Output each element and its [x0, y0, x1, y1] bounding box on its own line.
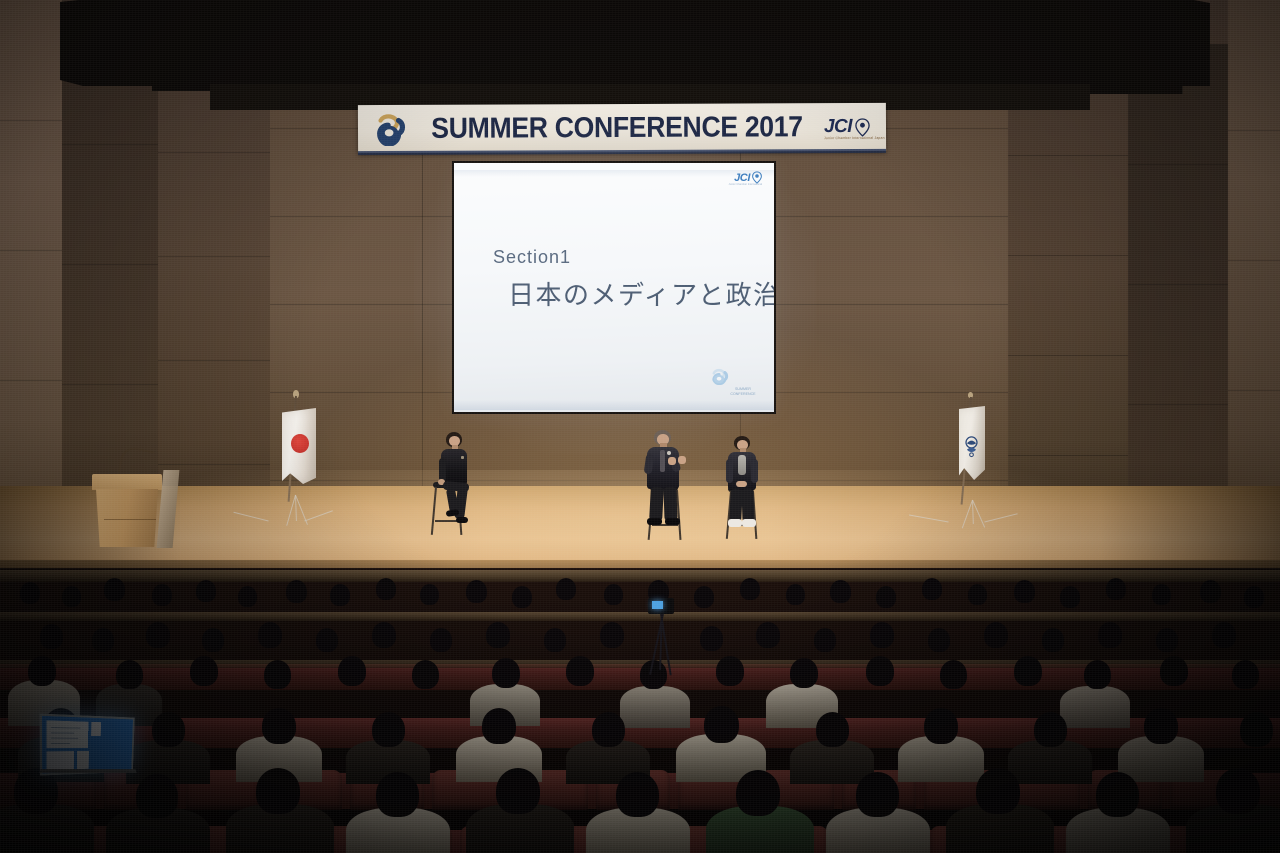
audience-member: [814, 628, 836, 652]
audience-member: [258, 622, 282, 648]
slide-footer-line1: SUMMER: [735, 387, 751, 391]
audience-member: [238, 586, 257, 607]
podium: [92, 474, 162, 546]
audience-seating: [0, 568, 1280, 853]
audience-member: [430, 628, 452, 652]
panelist-center: [636, 430, 706, 542]
audience-member: [940, 660, 967, 689]
audience-member: [544, 628, 566, 652]
japan-flag-stand: [262, 390, 332, 530]
audience-member: [256, 768, 300, 814]
audience-member: [756, 622, 780, 648]
audience-member: [1014, 580, 1035, 603]
audience-member: [412, 660, 439, 689]
audience-member: [92, 628, 114, 652]
audience-member: [736, 770, 780, 816]
audience-member: [28, 656, 56, 686]
conference-photo-scene: SUMMER CONFERENCE 2017 JCI Junior Chambe…: [0, 0, 1280, 853]
audience-member: [1244, 586, 1264, 608]
slide-footer-line2: CONFERENCE: [730, 392, 755, 396]
banner-title: SUMMER CONFERENCE 2017: [426, 111, 807, 146]
audience-member: [1152, 584, 1171, 605]
slide-headline: 日本のメディアと政治: [508, 275, 774, 312]
audience-member: [1160, 656, 1188, 686]
audience-member: [372, 712, 405, 747]
audience-member: [1240, 712, 1273, 747]
slide-footer-logo-text: SUMMER CONFERENCE: [726, 387, 760, 396]
audience-member: [924, 708, 958, 744]
audience-member: [316, 628, 338, 652]
slide-section-label: Section1: [493, 247, 571, 268]
audience-member: [196, 580, 216, 602]
audience-member: [600, 622, 624, 648]
audience-member: [466, 580, 487, 603]
audience-member: [1232, 660, 1259, 689]
summer-conference-loop-icon: [372, 112, 410, 146]
jci-flag-stand: [952, 392, 1022, 528]
audience-member: [1212, 622, 1236, 648]
audience-member: [1156, 628, 1178, 652]
audience-member: [496, 768, 540, 814]
banner-jci-subtitle: Junior Chamber International Japan: [824, 136, 885, 140]
slide-jci-abbrev: JCI: [734, 172, 750, 184]
audience-member: [700, 626, 723, 651]
audience-member: [264, 660, 291, 689]
slide-jci-subtitle: Junior Chamber International: [729, 183, 762, 186]
audience-member: [482, 708, 516, 744]
camera-lcd-screen: [652, 601, 663, 609]
audience-member: [604, 584, 623, 605]
audience-member: [40, 624, 63, 649]
audience-member: [376, 578, 396, 600]
audience-member: [1096, 772, 1139, 817]
banner-jci-abbrev: JCI: [824, 116, 852, 138]
audience-member: [1060, 586, 1080, 608]
panelist-right-shoe-right: [742, 519, 756, 527]
audience-member: [146, 622, 170, 648]
jci-shield-pin-icon: [855, 117, 870, 136]
podium-top: [92, 474, 162, 490]
audience-member: [870, 622, 894, 648]
audience-member: [1098, 622, 1122, 648]
audience-member: [866, 656, 894, 686]
audience-member: [1216, 768, 1260, 814]
audience-member: [1106, 578, 1126, 600]
audience-member: [704, 706, 739, 743]
audience-member: [592, 712, 625, 747]
audience-member: [556, 578, 576, 600]
jci-emblem-icon: [963, 436, 980, 458]
audience-member: [1084, 660, 1111, 689]
audience-member: [104, 578, 125, 601]
audience-member: [512, 586, 532, 608]
panelist-right-shoe-left: [728, 519, 742, 527]
audience-member: [152, 712, 185, 747]
banner-jci-logo: JCI Junior Chamber International Japan: [824, 116, 870, 138]
podium-body: [96, 489, 158, 547]
panelist-right: [718, 436, 780, 542]
projection-screen: JCI Junior Chamber International Section…: [454, 163, 774, 412]
audience-member: [1034, 712, 1067, 747]
jci-flag: [959, 406, 985, 480]
audience-member: [262, 708, 296, 744]
audience-member: [202, 628, 224, 652]
panelist-left: [428, 432, 490, 540]
audience-member: [1144, 708, 1178, 744]
audience-member: [376, 772, 419, 817]
audience-member: [136, 774, 178, 818]
audience-member: [116, 660, 143, 689]
audience-member: [830, 580, 851, 603]
audience-member: [486, 622, 510, 648]
audience-member: [968, 584, 987, 605]
audience-member: [694, 586, 714, 608]
audience-member: [566, 656, 594, 686]
audience-member: [740, 578, 760, 600]
audience-member: [1200, 580, 1221, 603]
audience-member: [922, 578, 942, 600]
slide-jci-logo: JCI Junior Chamber International: [734, 171, 762, 184]
audience-member: [790, 658, 818, 688]
audience-member: [640, 660, 667, 689]
audience-member: [152, 584, 172, 606]
audience-member: [330, 584, 350, 606]
audience-member: [984, 622, 1008, 648]
audience-member: [816, 712, 849, 747]
audience-member: [286, 580, 307, 603]
audience-member: [928, 628, 950, 652]
audience-member: [1014, 656, 1042, 686]
audience-member: [372, 622, 396, 648]
audience-member: [786, 584, 805, 605]
audience-member: [420, 584, 439, 605]
audience-member: [62, 586, 81, 607]
event-banner: SUMMER CONFERENCE 2017 JCI Junior Chambe…: [358, 103, 886, 153]
audience-member: [716, 656, 744, 686]
projection-screen-frame: JCI Junior Chamber International Section…: [452, 161, 776, 414]
audience-member: [492, 658, 520, 688]
audience-member: [876, 586, 896, 608]
audience-member: [338, 656, 366, 686]
audience-member: [856, 772, 899, 817]
japan-flag: [282, 408, 316, 484]
audience-member: [976, 768, 1020, 814]
audience-member: [190, 656, 218, 686]
audience-member: [1042, 628, 1064, 652]
audience-member: [616, 772, 659, 817]
audience-member: [20, 582, 40, 604]
audience-laptop-base: [39, 769, 136, 773]
audience-laptop-screen: [40, 714, 135, 776]
wall-panel-right-inner: [1008, 60, 1128, 560]
